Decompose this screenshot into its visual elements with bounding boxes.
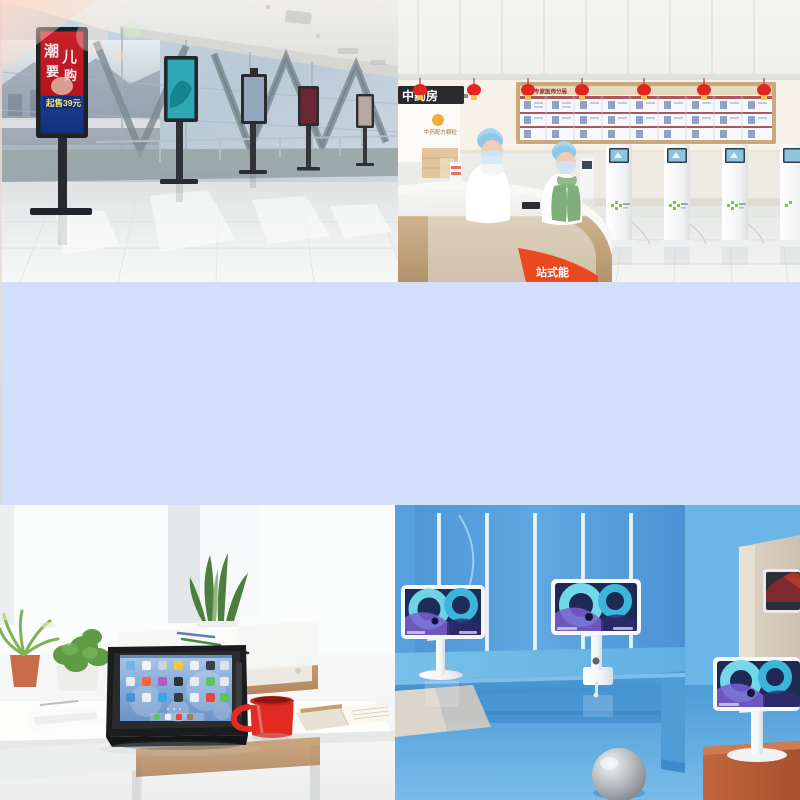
tablet-enclosure [106,645,248,750]
svg-text:儿: 儿 [61,49,77,66]
kiosk-ad-text: 潮 [44,42,59,60]
left-edge-line [0,0,2,505]
wall-mounted-tablet [763,569,800,613]
photo-office-desk-tablet-enclosure [0,505,395,800]
product-banner: 潮 儿 要 购 起售39元 [0,0,800,800]
mall-corridor-illustration: 潮 儿 要 购 起售39元 [0,0,398,282]
svg-text:要: 要 [46,64,59,79]
hospital-reception-illustration: 中药房 中药配方颗粒 专家医师分局 [398,0,800,282]
tablet-stand-render-illustration [395,505,800,800]
counter-banner-text: 站式能 [536,265,569,279]
metal-sphere [592,748,646,800]
photo-hospital-pharmacy-kiosks: 中药房 中药配方颗粒 专家医师分局 [398,0,800,282]
schedule-board-title: 专家医师分局 [534,88,568,96]
svg-text:中药配方颗粒: 中药配方颗粒 [424,128,458,136]
kiosk-ad-price: 起售39元 [45,98,81,108]
promo-text-band: Source manufacturer Focus on bracket cus… [0,282,800,505]
photo-3d-tablet-stand-render [395,505,800,800]
office-desk-illustration [0,505,395,800]
photo-mall-signage-corridor: 潮 儿 要 购 起售39元 [0,0,398,282]
